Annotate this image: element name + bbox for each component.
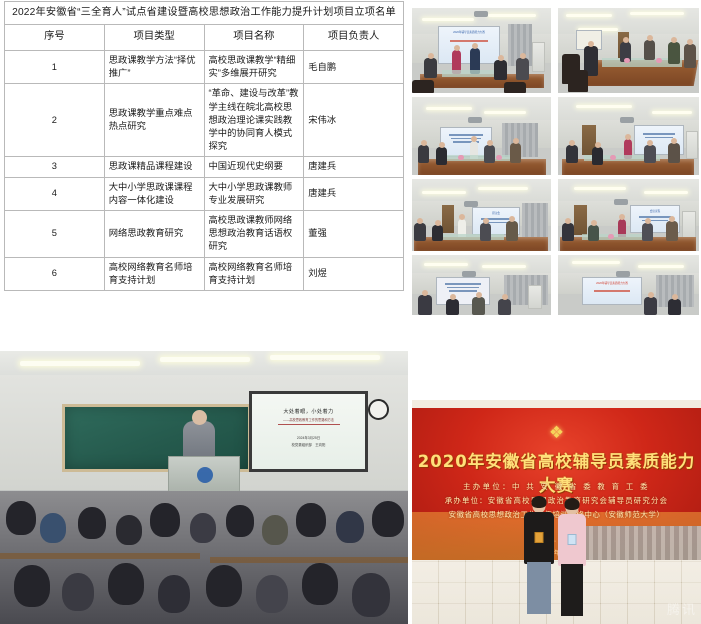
banner-date: 2020年11月 [412,548,701,557]
cell-no: 5 [5,210,105,257]
table-header-row: 序号 项目类型 项目名称 项目负责人 [5,25,404,51]
banner-organizer: 主办单位：中 共 安 徽 省 委 教 育 工 委 [412,481,701,492]
cell-owner: 刘煜 [304,257,404,290]
collage-photo-8: 2020年辅导员素质能力大赛 [558,255,699,315]
cell-type: 思政课教学方法“择优推广” [104,51,204,84]
banner-support: 安徽省高校思想政治工作队伍培训研修中心（安徽师范大学） [412,509,701,520]
cell-type: 网络思政教育研究 [104,210,204,257]
slide-speaker: 校党委组织部 王向阳 [252,442,365,448]
cell-no: 1 [5,51,105,84]
banner-place: 安徽 · 芜湖 [412,536,701,546]
cell-owner: 唐建兵 [304,157,404,177]
slide-title: 大处着眼，小处着力 [252,408,365,415]
slide-date: 2024年3月25日 [252,435,365,441]
cell-name: 高校思政课教师网络思想政治教育话语权研究 [204,210,304,257]
project-list-table: 2022年安徽省“三全育人”试点省建设暨高校思想政治工作能力提升计划项目立项名单… [4,1,404,291]
award-banner-photo: ❖ 2020年安徽省高校辅导员素质能力大赛 主办单位：中 共 安 徽 省 委 教… [412,400,701,624]
cell-name: 高校网络教育名师培育支持计划 [204,257,304,290]
banner-board: ❖ 2020年安徽省高校辅导员素质能力大赛 主办单位：中 共 安 徽 省 委 教… [412,408,701,560]
ceiling-light [160,357,250,362]
person-left [524,498,554,618]
cell-owner: 毛自鹏 [304,51,404,84]
person-right [558,500,586,618]
slide-subtitle: ——高校思政教育工作的思路和方法 [252,417,365,422]
podium [168,456,240,494]
collage-photo-5: 研讨会 [412,179,551,251]
table-row: 2 思政课教学重点难点热点研究 “革命、建设与改革”教学主线在皖北高校思想政治理… [5,84,404,157]
cell-no: 2 [5,84,105,157]
collage-photo-4 [558,97,699,175]
table-row: 3 思政课精品课程建设 中国近现代史纲要 唐建兵 [5,157,404,177]
cell-name: 大中小学思政课教师专业发展研究 [204,177,304,210]
collage-photo-1: 2020年辅导员素质能力大赛 [412,8,551,93]
collage-photo-7 [412,255,551,315]
cell-owner: 宋伟冰 [304,84,404,157]
cell-owner: 唐建兵 [304,177,404,210]
cell-type: 大中小学思政课课程内容一体化建设 [104,177,204,210]
collage-photo-3 [412,97,551,175]
table-row: 4 大中小学思政课课程内容一体化建设 大中小学思政课教师专业发展研究 唐建兵 [5,177,404,210]
column-header-no: 序号 [5,25,105,51]
ceiling-light [20,361,140,366]
table-row: 1 思政课教学方法“择优推广” 高校思政课教学“精细实”多维展开研究 毛自鹏 [5,51,404,84]
watermark: 腾讯 [667,599,697,618]
cell-type: 高校网络教育名师培育支持计划 [104,257,204,290]
banner-co-organizer: 承办单位：安徽省高校思想政治教育研究会辅导员研究分会 [412,495,701,506]
audience-area [0,491,408,624]
photo-collage-column: 2020年辅导员素质能力大赛 [410,0,701,624]
screenshot-page: 2022年安徽省“三全育人”试点省建设暨高校思想政治工作能力提升计划项目立项名单… [0,0,701,624]
column-header-owner: 项目负责人 [304,25,404,51]
document-title: 2022年安徽省“三全育人”试点省建设暨高校思想政治工作能力提升计划项目立项名单 [5,2,404,25]
table-title-row: 2022年安徽省“三全育人”试点省建设暨高校思想政治工作能力提升计划项目立项名单 [5,2,404,25]
cell-type: 思政课教学重点难点热点研究 [104,84,204,157]
cell-no: 4 [5,177,105,210]
cell-owner: 董强 [304,210,404,257]
cell-no: 6 [5,257,105,290]
cell-name: 中国近现代史纲要 [204,157,304,177]
projection-screen: 大处着眼，小处着力 ——高校思政教育工作的思路和方法 2024年3月25日 校党… [249,391,368,472]
hall-floor [412,560,701,624]
column-header-name: 项目名称 [204,25,304,51]
slide-divider [278,424,340,425]
wall-clock-icon [368,399,389,420]
cell-name: “革命、建设与改革”教学主线在皖北高校思想政治理论课实践教学中的协同育人模式探究 [204,84,304,157]
cell-type: 思政课精品课程建设 [104,157,204,177]
party-emblem-icon: ❖ [549,424,564,441]
cell-name: 高校思政课教学“精细实”多维展开研究 [204,51,304,84]
ceiling-light [270,355,380,360]
cell-no: 3 [5,157,105,177]
collage-photo-2 [558,8,699,93]
table-row: 5 网络思政教育研究 高校思政课教师网络思想政治教育话语权研究 董强 [5,210,404,257]
collage-photo-6: 会议议程 [558,179,699,251]
lecture-hall-photo: 大处着眼，小处着力 ——高校思政教育工作的思路和方法 2024年3月25日 校党… [0,351,408,624]
table-row: 6 高校网络教育名师培育支持计划 高校网络教育名师培育支持计划 刘煜 [5,257,404,290]
university-emblem-icon [197,467,213,483]
document-column: 2022年安徽省“三全育人”试点省建设暨高校思想政治工作能力提升计划项目立项名单… [0,0,408,624]
column-header-type: 项目类型 [104,25,204,51]
